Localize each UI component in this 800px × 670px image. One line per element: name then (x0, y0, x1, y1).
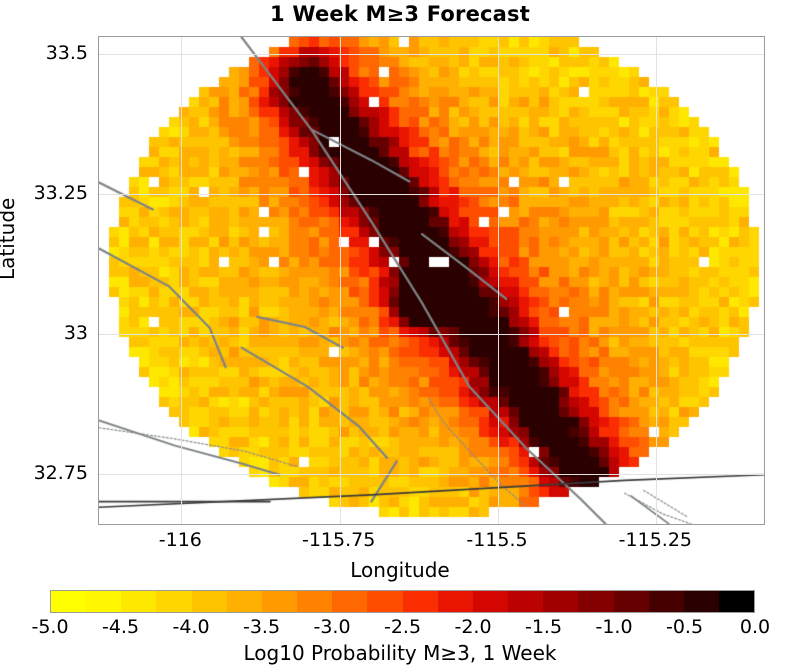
colorbar-tick-label: -2.5 (384, 616, 421, 638)
probability-heatmap (99, 37, 764, 524)
colorbar-swatch (262, 591, 297, 612)
y-tick-label: 32.75 (0, 462, 88, 484)
colorbar-swatch (367, 591, 402, 612)
colorbar-swatch (543, 591, 578, 612)
colorbar-swatch (86, 591, 121, 612)
colorbar-swatch (51, 591, 86, 612)
x-tick-label: -116 (159, 529, 202, 551)
colorbar-tick-label: -1.5 (525, 616, 562, 638)
grid-line-vertical (181, 37, 182, 524)
y-tick-label: 33.5 (0, 42, 88, 64)
colorbar-tick-label: -1.0 (595, 616, 632, 638)
colorbar-swatch (614, 591, 649, 612)
grid-line-horizontal (99, 194, 764, 195)
colorbar-tick-label: -4.5 (102, 616, 139, 638)
colorbar-swatch (578, 591, 613, 612)
grid-line-horizontal (99, 334, 764, 335)
colorbar-swatch (508, 591, 543, 612)
colorbar-swatch (649, 591, 684, 612)
colorbar-swatch (473, 591, 508, 612)
colorbar-tick-label: -4.0 (172, 616, 209, 638)
colorbar-swatch (156, 591, 191, 612)
colorbar-tick-label: -5.0 (31, 616, 68, 638)
x-axis-label: Longitude (0, 558, 800, 582)
colorbar-tick-label: -0.5 (666, 616, 703, 638)
colorbar-swatch (297, 591, 332, 612)
grid-line-vertical (656, 37, 657, 524)
colorbar-tick-label: -3.0 (313, 616, 350, 638)
colorbar-swatch (332, 591, 367, 612)
y-axis-label: Latitude (0, 198, 19, 280)
y-tick-label: 33 (0, 322, 88, 344)
colorbar-swatch (403, 591, 438, 612)
colorbar-label: Log10 Probability M≥3, 1 Week (0, 641, 800, 665)
x-tick-label: -115.75 (302, 529, 375, 551)
x-tick-label: -115.5 (466, 529, 527, 551)
colorbar-swatch (121, 591, 156, 612)
colorbar-tick-label: -3.5 (243, 616, 280, 638)
map-axes (98, 36, 765, 525)
colorbar (50, 590, 755, 613)
grid-line-horizontal (99, 54, 764, 55)
x-tick-label: -115.25 (619, 529, 692, 551)
colorbar-tick-label: 0.0 (740, 616, 770, 638)
forecast-figure: 1 Week M≥3 Forecast 33.533.253332.75 -11… (0, 0, 800, 670)
page-title: 1 Week M≥3 Forecast (0, 2, 800, 26)
grid-line-horizontal (99, 474, 764, 475)
grid-line-vertical (498, 37, 499, 524)
grid-line-vertical (340, 37, 341, 524)
colorbar-swatch (438, 591, 473, 612)
colorbar-swatch (192, 591, 227, 612)
colorbar-swatch (719, 591, 754, 612)
colorbar-tick-label: -2.0 (454, 616, 491, 638)
colorbar-swatch (684, 591, 719, 612)
colorbar-swatch (227, 591, 262, 612)
